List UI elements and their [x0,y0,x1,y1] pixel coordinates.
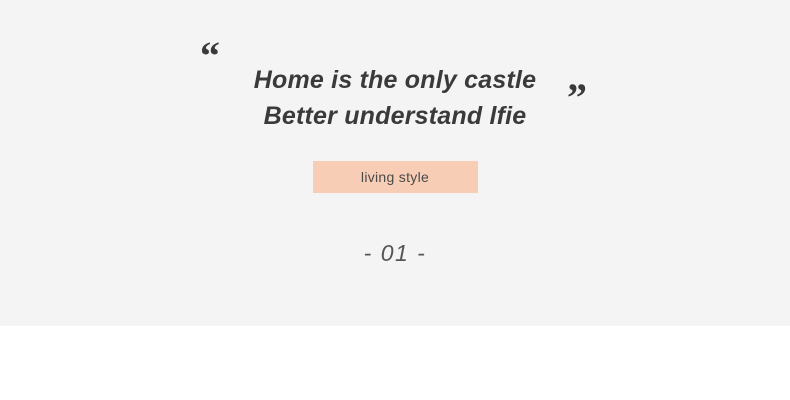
quote-text: Home is the only castle Better understan… [0,62,790,134]
quote-line-1: Home is the only castle [0,62,790,98]
quote-block: “ ” Home is the only castle Better under… [0,0,790,150]
badge-row: living style [0,161,790,193]
page-indicator-row: - 01 - [0,236,790,270]
page-indicator: - 01 - [364,240,427,266]
slide-root: “ ” Home is the only castle Better under… [0,0,790,400]
category-badge[interactable]: living style [313,161,478,193]
quote-line-2: Better understand lfie [0,98,790,134]
category-badge-label: living style [361,169,429,185]
